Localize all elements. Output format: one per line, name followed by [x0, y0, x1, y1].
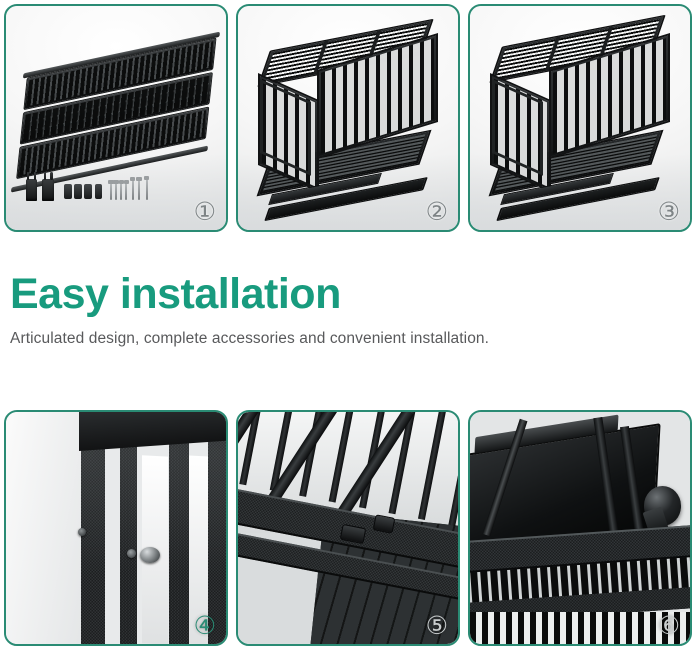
- step-panel-6: ⑥: [468, 410, 692, 646]
- page-subtitle: Articulated design, complete accessories…: [10, 330, 670, 348]
- step-panel-5: ⑤: [236, 410, 460, 646]
- crate-assembly-graphic: [238, 6, 458, 230]
- accessory-hardware-group: [26, 165, 154, 201]
- step-6-image: [470, 412, 690, 644]
- step-panel-1: ①: [4, 4, 228, 232]
- crate-vertical-post: [169, 412, 189, 644]
- steps-row-bottom: ④: [4, 410, 692, 646]
- bolt-head: [127, 549, 136, 558]
- crate-body: [258, 64, 438, 212]
- crate-bar: [418, 412, 446, 521]
- nut-part: [95, 184, 103, 199]
- hinge-closeup-graphic: [238, 412, 458, 644]
- studio-wall: [6, 412, 83, 644]
- step-panel-3: ③: [468, 4, 692, 232]
- screw-part: [132, 180, 134, 200]
- steps-row-top: ①: [4, 4, 692, 232]
- step-panel-4: ④: [4, 410, 228, 646]
- product-feature-image: ①: [0, 0, 696, 650]
- screw-part: [115, 183, 117, 200]
- step-number-badge-3: ③: [658, 199, 680, 224]
- crate-bar: [448, 415, 458, 526]
- step-5-image: [238, 412, 458, 644]
- frame-bolt-closeup-graphic: [6, 412, 226, 644]
- screw-part: [125, 183, 127, 200]
- plastic-foot-part: [26, 179, 37, 201]
- bolt-nut-assembly: [140, 547, 160, 563]
- step-number-badge-4: ④: [194, 613, 216, 638]
- screw-part: [146, 179, 148, 200]
- bolt-head: [78, 528, 86, 536]
- screw-part: [110, 183, 112, 200]
- step-panel-2: ②: [236, 4, 460, 232]
- crate-vertical-post: [208, 412, 226, 644]
- step-4-image: [6, 412, 226, 644]
- step-number-badge-2: ②: [426, 199, 448, 224]
- step-number-badge-1: ①: [194, 199, 216, 224]
- step-1-image: [6, 6, 226, 230]
- step-3-image: [470, 6, 690, 230]
- step-2-image: [238, 6, 458, 230]
- crate-body: [490, 64, 670, 212]
- tray-caster-closeup-graphic: [470, 412, 690, 644]
- nut-part: [84, 184, 92, 199]
- step-number-badge-5: ⑤: [426, 613, 448, 638]
- screw-part: [120, 183, 122, 200]
- nut-part: [74, 184, 82, 199]
- screw-part: [138, 180, 140, 200]
- nut-part: [64, 184, 72, 199]
- step-number-badge-6: ⑥: [658, 613, 680, 638]
- page-title: Easy installation: [10, 272, 670, 317]
- headline-block: Easy installation Articulated design, co…: [10, 272, 670, 348]
- crate-assembled-graphic: [470, 6, 690, 230]
- crate-top-rail: [79, 412, 226, 451]
- plastic-foot-part: [42, 179, 53, 201]
